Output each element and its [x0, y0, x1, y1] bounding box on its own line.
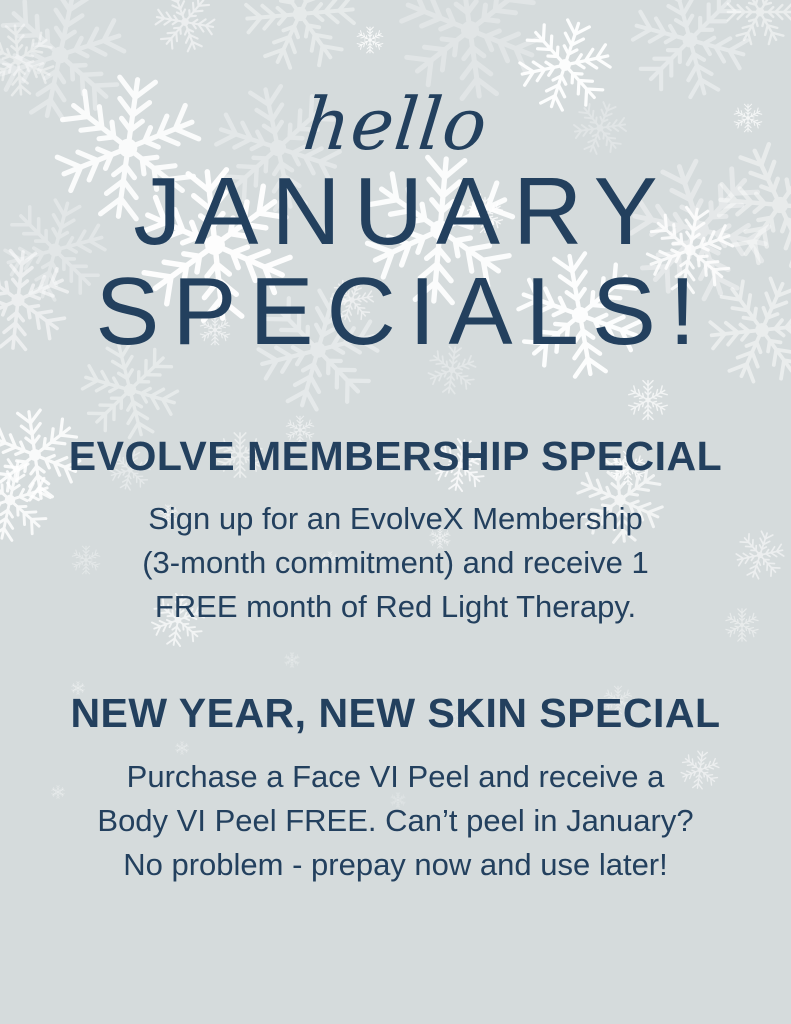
page-title: JANUARY SPECIALS!	[0, 166, 791, 358]
body-line: Body VI Peel FREE. Can’t peel in January…	[0, 799, 791, 843]
january-specials-flyer: hello JANUARY SPECIALS! EVOLVE MEMBERSHI…	[0, 0, 791, 1024]
body-line: FREE month of Red Light Therapy.	[0, 585, 791, 629]
title-line-specials: SPECIALS!	[0, 266, 791, 358]
body-line: Purchase a Face VI Peel and receive a	[0, 755, 791, 799]
section-body-new-year-new-skin: Purchase a Face VI Peel and receive a Bo…	[0, 755, 791, 887]
body-line: No problem - prepay now and use later!	[0, 843, 791, 887]
special-section-evolve-membership: EVOLVE MEMBERSHIP SPECIAL Sign up for an…	[0, 434, 791, 629]
hello-script-greeting: hello	[300, 88, 491, 160]
body-line: Sign up for an EvolveX Membership	[0, 497, 791, 541]
section-heading-new-year-new-skin: NEW YEAR, NEW SKIN SPECIAL	[0, 691, 791, 736]
section-body-evolve-membership: Sign up for an EvolveX Membership (3-mon…	[0, 497, 791, 629]
section-heading-evolve-membership: EVOLVE MEMBERSHIP SPECIAL	[0, 434, 791, 479]
title-line-january: JANUARY	[0, 166, 791, 258]
special-section-new-year-new-skin: NEW YEAR, NEW SKIN SPECIAL Purchase a Fa…	[0, 691, 791, 886]
body-line: (3-month commitment) and receive 1	[0, 541, 791, 585]
flyer-content: hello JANUARY SPECIALS! EVOLVE MEMBERSHI…	[0, 0, 791, 1024]
